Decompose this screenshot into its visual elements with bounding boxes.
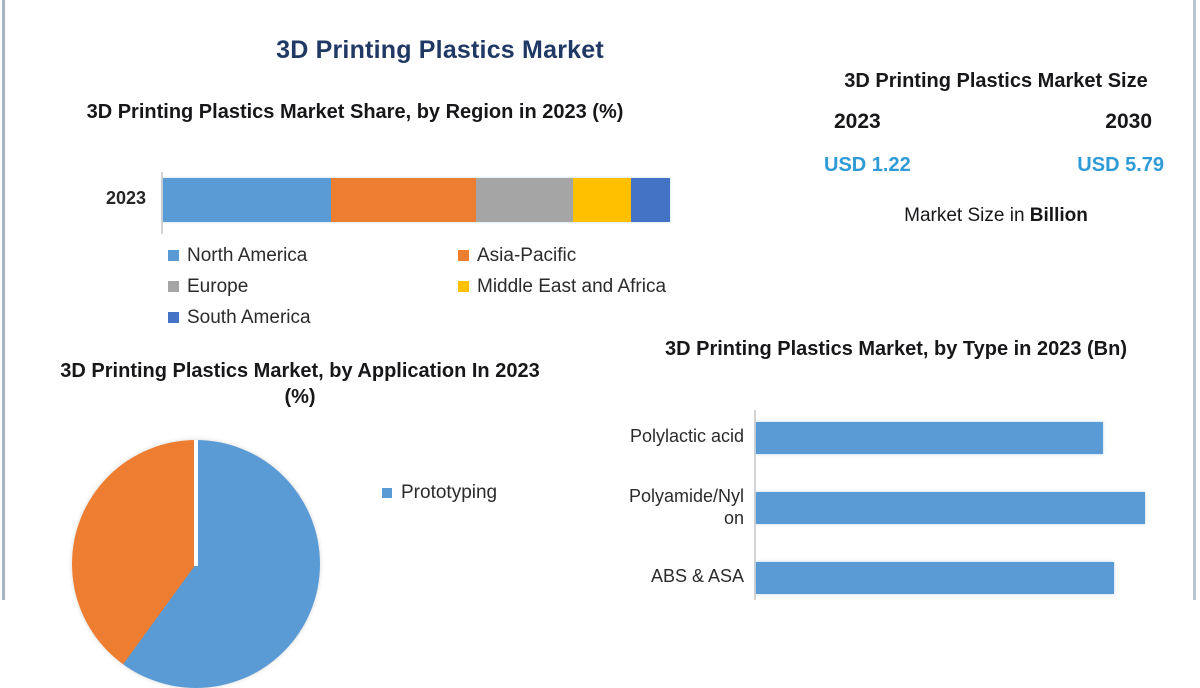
type-label: Polylactic acid <box>586 426 744 448</box>
legend-item-middle-east-and-africa[interactable]: Middle East and Africa <box>458 271 728 302</box>
legend-swatch-icon <box>458 281 469 292</box>
application-legend: Prototyping <box>382 478 497 508</box>
left-border <box>2 0 5 600</box>
type-label: ABS & ASA <box>586 566 744 588</box>
legend-label: Prototyping <box>401 482 497 504</box>
market-size-values: USD 1.22 USD 5.79 <box>810 134 1182 177</box>
type-row-polyamide-nylon: Polyamide/Nyl on <box>586 488 1200 540</box>
type-bar-polyamide-nylon[interactable] <box>756 492 1145 524</box>
type-label: Polyamide/Nyl on <box>586 486 744 530</box>
region-segment-middle-east-and-africa[interactable] <box>573 178 631 222</box>
legend-label: Europe <box>187 276 248 298</box>
region-segment-south-america[interactable] <box>631 178 670 222</box>
type-bar-abs-asa[interactable] <box>756 562 1114 594</box>
legend-item-europe[interactable]: Europe <box>168 271 458 302</box>
market-size-footer-prefix: Market Size in <box>904 205 1030 226</box>
type-row-abs-asa: ABS & ASA <box>586 558 1200 610</box>
region-segment-north-america[interactable] <box>163 178 331 222</box>
legend-label: Middle East and Africa <box>477 276 666 298</box>
type-bar-chart: 3D Printing Plastics Market, by Type in … <box>586 336 1200 600</box>
region-legend: North America Asia-Pacific Europe Middle… <box>168 240 728 333</box>
market-size-year-right: 2030 <box>1105 110 1152 134</box>
market-size-years: 2023 2030 <box>810 94 1182 134</box>
legend-swatch-icon <box>168 250 179 261</box>
region-segment-europe[interactable] <box>476 178 573 222</box>
application-pie-slice-gap <box>194 440 198 566</box>
market-size-footer: Market Size in Billion <box>810 177 1182 227</box>
application-chart-title: 3D Printing Plastics Market, by Applicat… <box>60 358 540 410</box>
market-size-value-2023: USD 1.22 <box>824 154 911 177</box>
market-size-footer-unit: Billion <box>1030 205 1088 226</box>
legend-item-north-america[interactable]: North America <box>168 240 458 271</box>
legend-swatch-icon <box>168 281 179 292</box>
legend-label: South America <box>187 307 311 329</box>
region-category-label: 2023 <box>86 188 146 209</box>
region-segment-asia-pacific[interactable] <box>331 178 476 222</box>
market-size-title: 3D Printing Plastics Market Size <box>810 68 1182 94</box>
market-size-value-2030: USD 5.79 <box>1077 154 1164 177</box>
region-chart-title: 3D Printing Plastics Market Share, by Re… <box>40 100 670 126</box>
market-size-panel: 3D Printing Plastics Market Size 2023 20… <box>810 68 1182 298</box>
type-row-polylactic-acid: Polylactic acid <box>586 418 1200 470</box>
type-bar-polylactic-acid[interactable] <box>756 422 1103 454</box>
legend-item-prototyping[interactable]: Prototyping <box>382 478 497 508</box>
application-share-chart: 3D Printing Plastics Market, by Applicat… <box>20 358 640 600</box>
legend-label: Asia-Pacific <box>477 245 576 267</box>
type-chart-title: 3D Printing Plastics Market, by Type in … <box>626 336 1166 362</box>
type-plot-area: Polylactic acid Polyamide/Nyl on ABS & A… <box>586 410 1200 600</box>
market-size-year-left: 2023 <box>834 110 881 134</box>
legend-swatch-icon <box>382 488 392 498</box>
page-title: 3D Printing Plastics Market <box>140 36 740 65</box>
legend-label: North America <box>187 245 307 267</box>
legend-item-asia-pacific[interactable]: Asia-Pacific <box>458 240 728 271</box>
legend-item-south-america[interactable]: South America <box>168 302 458 333</box>
legend-swatch-icon <box>168 312 179 323</box>
region-plot-area: 2023 <box>28 172 688 234</box>
region-share-chart: 3D Printing Plastics Market Share, by Re… <box>28 100 688 345</box>
legend-swatch-icon <box>458 250 469 261</box>
region-stacked-bar <box>163 178 670 222</box>
